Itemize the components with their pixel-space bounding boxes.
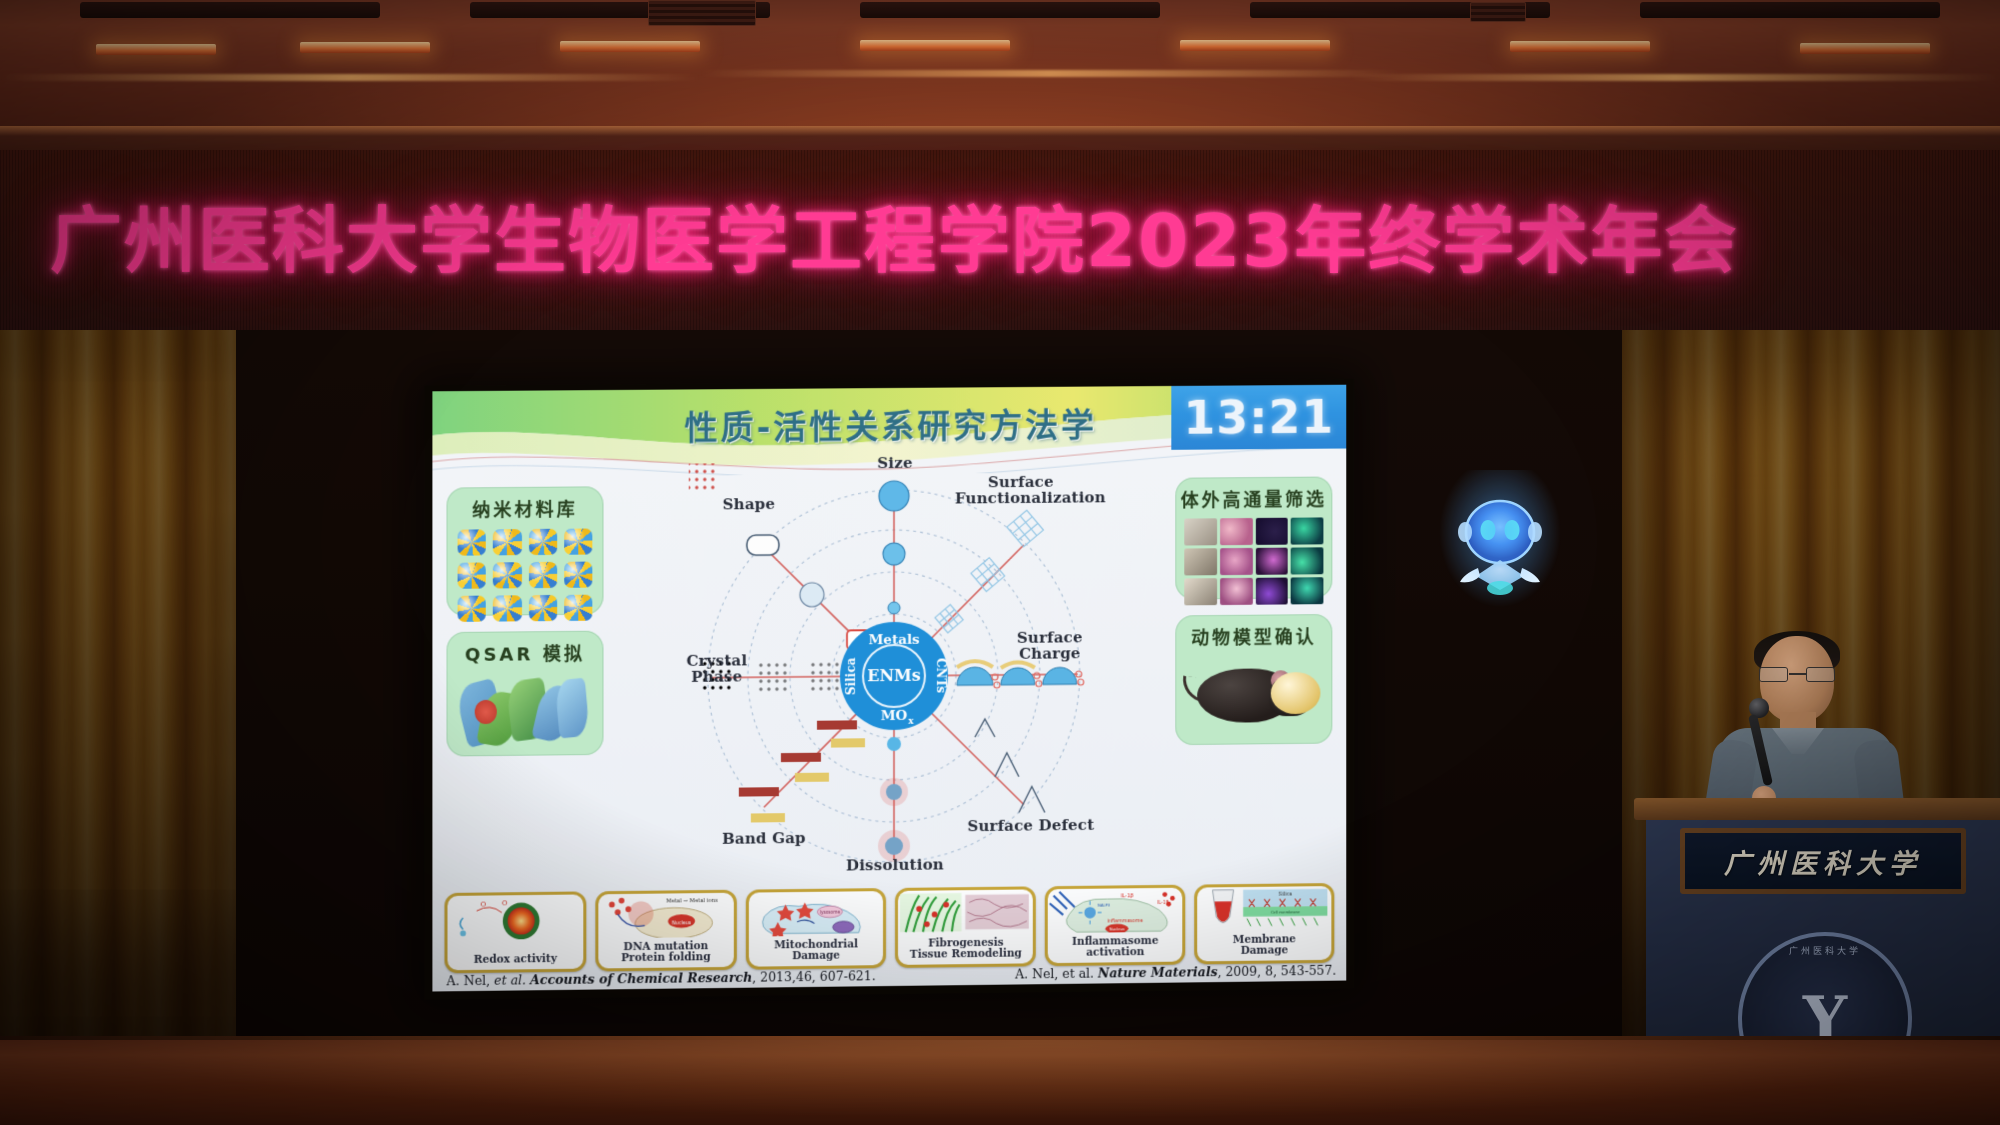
hub-label-size: Size [857, 456, 933, 472]
card-redox-label: Redox activity [448, 954, 584, 967]
podium-nameplate-text: 广州医科大学 [1724, 842, 1922, 881]
svg-text:O: O [502, 900, 508, 908]
podium-top-surface [1634, 798, 2000, 820]
card-mito-label: Mitochondrial Damage [749, 939, 884, 964]
card-mito-art: lysosome [749, 891, 884, 937]
card-inflammasome: IL-1β IL-1β NALP3 inflammasome Nucleus I… [1045, 885, 1185, 966]
reference-left-suffix: , 2013,46, 607-621. [752, 968, 876, 984]
hub-label-surface-charge: Surface Charge [1007, 630, 1093, 663]
reference-left-etal: et al. [494, 972, 526, 987]
panel-nano-library: 纳米材料库 [447, 486, 604, 616]
card-dna-art: Nucleus Metal → Metal ions [598, 893, 733, 939]
card-inflammasome-art: IL-1β IL-1β NALP3 inflammasome Nucleus [1048, 888, 1182, 933]
svg-text:IL-1β: IL-1β [1121, 893, 1134, 899]
svg-text:Metals: Metals [868, 632, 920, 648]
card-membrane-label: Membrane Damage [1197, 933, 1331, 958]
hub-label-crystal-phase: Crystal Phase [677, 653, 757, 686]
banner-title: 广州医科大学生物医学工程学院2023年终学术年会 [50, 182, 1820, 287]
card-fibro-label: Fibrogenesis Tissue Remodeling [898, 937, 1033, 962]
ceiling-light [860, 40, 1010, 51]
hub-label-dissolution: Dissolution [833, 857, 957, 874]
svg-text:x: x [908, 717, 914, 727]
hub-label-surface-defect: Surface Defect [965, 818, 1097, 835]
panel-qsar: QSAR 模拟 [447, 631, 604, 757]
ceiling-light [300, 42, 430, 53]
reference-right-journal: Nature Materials [1098, 964, 1218, 980]
panel-hts-title: 体外高通量筛选 [1175, 485, 1332, 512]
emblem-top-text: 广州医科大学 [1789, 944, 1861, 957]
ceiling-light [1510, 41, 1650, 52]
podium-nameplate: 广州医科大学 [1680, 828, 1966, 894]
panel-qsar-title: QSAR 模拟 [447, 640, 604, 668]
card-redox-activity: O O Redox activity [444, 891, 586, 973]
ceiling-vent [648, 0, 756, 26]
conference-hall-scene: 广州医科大学生物医学工程学院2023年终学术年会 [0, 0, 2000, 1125]
card-membrane-damage: Silica Cell membrane Membrane Damage [1194, 883, 1334, 964]
clock-display: 13:21 [1171, 385, 1346, 450]
svg-text:Silica: Silica [844, 657, 858, 695]
reference-right-suffix: , 2009, 8, 543-557. [1218, 962, 1337, 978]
reference-right: A. Nel, et al. Nature Materials, 2009, 8… [1015, 962, 1336, 981]
svg-text:MO: MO [881, 708, 908, 724]
card-dna-mutation: Nucleus Metal → Metal ions DNA mutation … [595, 890, 736, 972]
ceiling-light [560, 41, 700, 52]
panel-qsar-art [447, 669, 604, 670]
svg-text:ENMs: ENMs [867, 666, 920, 685]
panel-nano-library-title: 纳米材料库 [447, 495, 604, 522]
hub-label-shape: Shape [711, 497, 787, 514]
panel-animal-model-title: 动物模型确认 [1175, 623, 1332, 650]
svg-text:Metal → Metal ions: Metal → Metal ions [666, 898, 718, 905]
reference-left: A. Nel, et al. Accounts of Chemical Rese… [447, 968, 876, 988]
svg-text:CNTs: CNTs [934, 658, 948, 693]
card-redox-art: O O [448, 894, 584, 940]
card-dna-label: DNA mutation Protein folding [598, 940, 733, 965]
panel-hts-art [1175, 514, 1332, 593]
ceiling-light [1180, 40, 1330, 51]
hub-label-surface-functionalization: Surface Functionalization [955, 474, 1087, 507]
card-membrane-art: Silica Cell membrane [1197, 886, 1331, 931]
robot-mascot [1452, 492, 1548, 596]
speaker-glasses [1758, 667, 1836, 682]
svg-text:Nucleus: Nucleus [672, 920, 692, 926]
stage-floor-reflection [0, 1040, 2000, 1125]
stage-curtain-left [0, 330, 236, 1060]
hub-diagram: ENMs Metals MO x Silica CNTs Size Surfac… [689, 460, 1099, 882]
reference-left-journal: Accounts of Chemical Research [530, 969, 752, 987]
panel-nano-library-art [447, 524, 604, 610]
ceiling [0, 0, 2000, 128]
svg-text:lysosome: lysosome [819, 910, 840, 916]
reference-left-prefix: A. Nel, [447, 972, 495, 988]
ceiling-vent [1470, 2, 1526, 22]
card-fibrogenesis: Fibrogenesis Tissue Remodeling [895, 886, 1036, 968]
svg-text:inflammasome: inflammasome [1108, 918, 1144, 924]
hub-label-band-gap: Band Gap [711, 831, 817, 848]
svg-text:Cell membrane: Cell membrane [1271, 909, 1301, 914]
outcome-card-row: O O Redox activity N [444, 883, 1334, 973]
panel-animal-model-art [1175, 652, 1332, 739]
card-inflammasome-label: Inflammasome activation [1048, 935, 1182, 960]
projection-screen: 性质-活性关系研究方法学 13:21 纳米材料库 QSAR 模拟 [424, 379, 1354, 1000]
card-fibro-art [898, 889, 1033, 935]
reference-right-prefix: A. Nel, et al. [1015, 965, 1098, 981]
wall-edge-light [0, 126, 2000, 136]
svg-text:NALP3: NALP3 [1098, 903, 1111, 908]
presentation-slide: 性质-活性关系研究方法学 13:21 纳米材料库 QSAR 模拟 [432, 385, 1346, 992]
ceiling-light [96, 44, 216, 55]
card-mitochondrial-damage: lysosome Mitochondrial Damage [746, 888, 887, 970]
robot-glow [1430, 470, 1570, 618]
ceiling-light [1800, 43, 1930, 54]
svg-text:Nucleus: Nucleus [1110, 927, 1125, 932]
svg-text:Silica: Silica [1279, 892, 1292, 898]
panel-animal-model: 动物模型确认 [1175, 614, 1332, 745]
panel-hts: 体外高通量筛选 [1175, 476, 1332, 599]
